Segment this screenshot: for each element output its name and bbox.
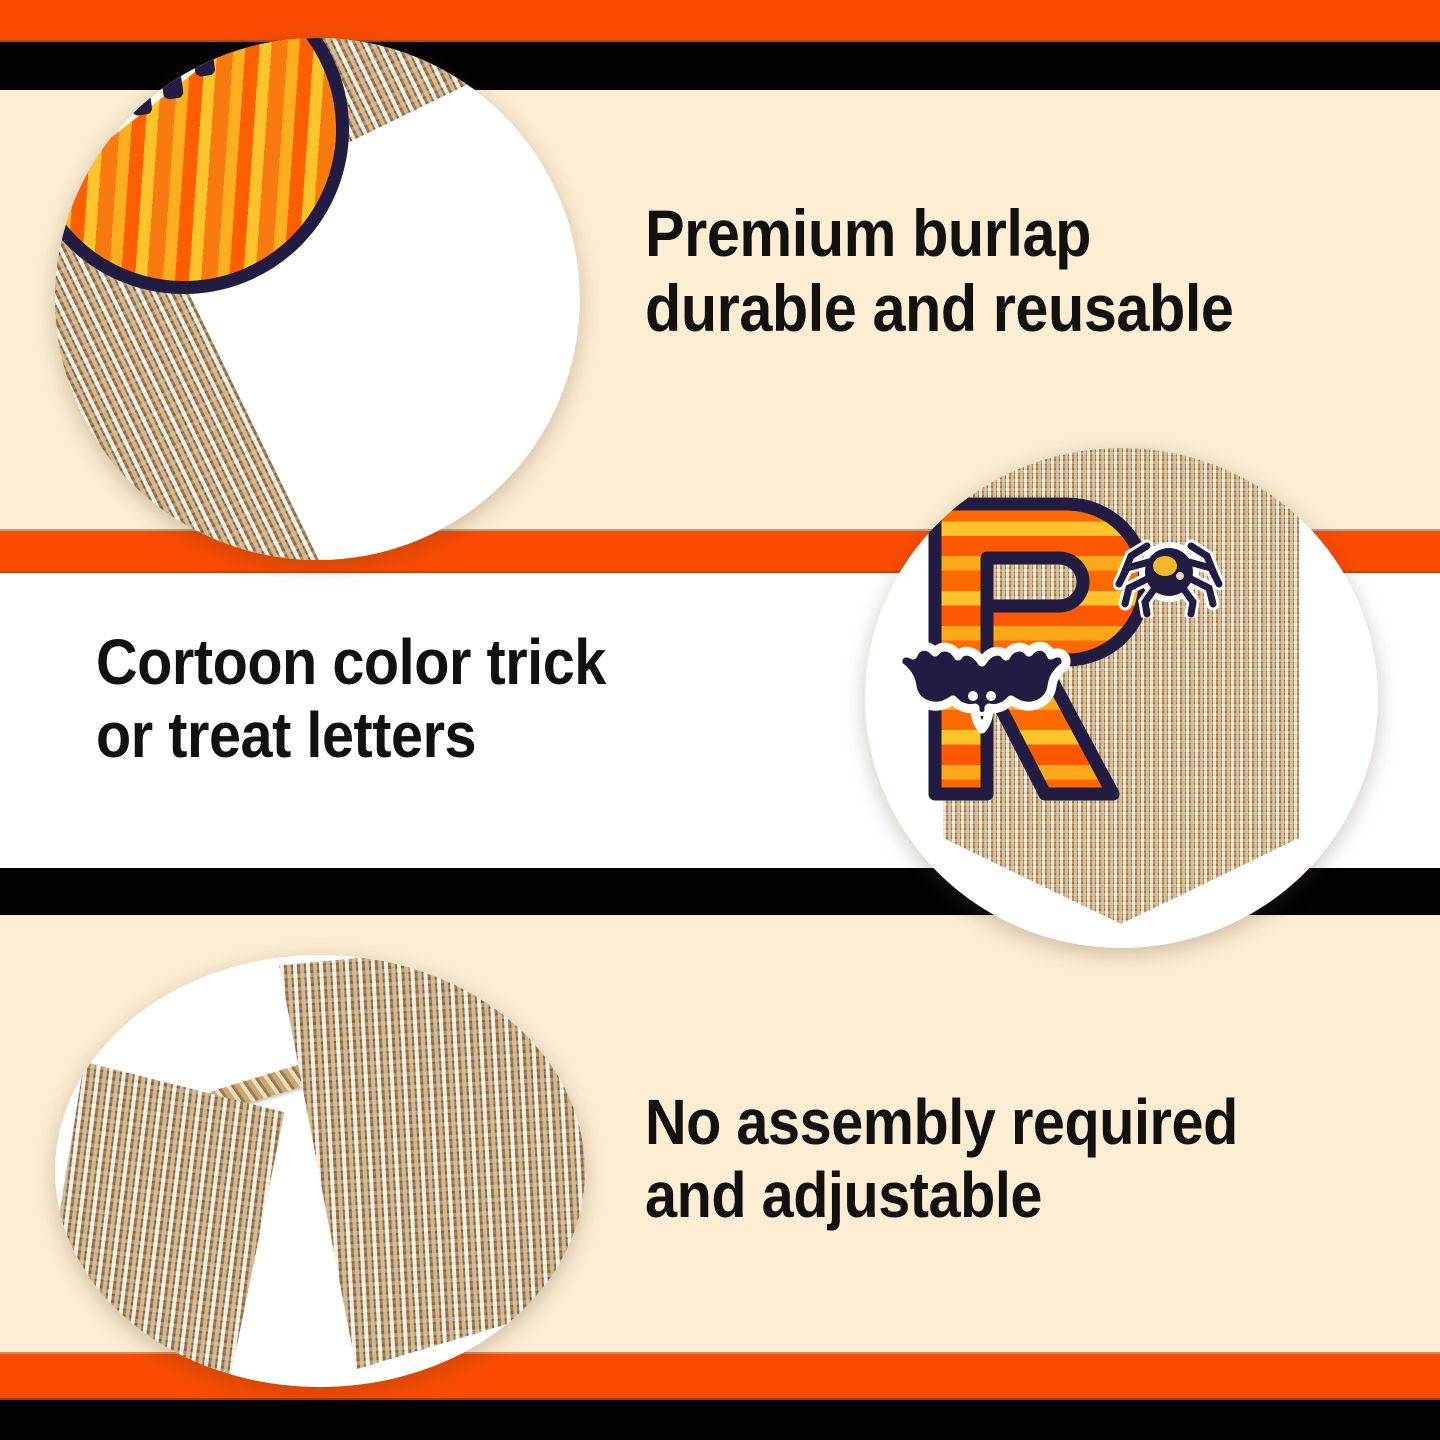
band-black-bottom [0,1400,1440,1440]
band-orange-top [0,0,1440,42]
caption-cartoon-letters: Cortoon color trick or treat letters [96,626,606,772]
photo-burlap-texture [55,38,580,560]
bat-sticker-icon [893,640,1071,760]
band-hairline [0,1398,1440,1400]
burlap-flag-right [266,955,585,1373]
photo-banner-flags-on-cord [55,955,585,1387]
spider-sticker-icon [1113,526,1225,618]
burlap-flag-left [55,1053,288,1387]
photo-letter-r-pennant [865,448,1378,948]
caption-premium-burlap: Premium burlap durable and reusable [645,196,1233,346]
caption-no-assembly: No assembly required and adjustable [645,1086,1238,1232]
infographic-canvas: Premium burlap durable and reusable [0,0,1440,1440]
letter-fragment-white-area [55,38,324,192]
